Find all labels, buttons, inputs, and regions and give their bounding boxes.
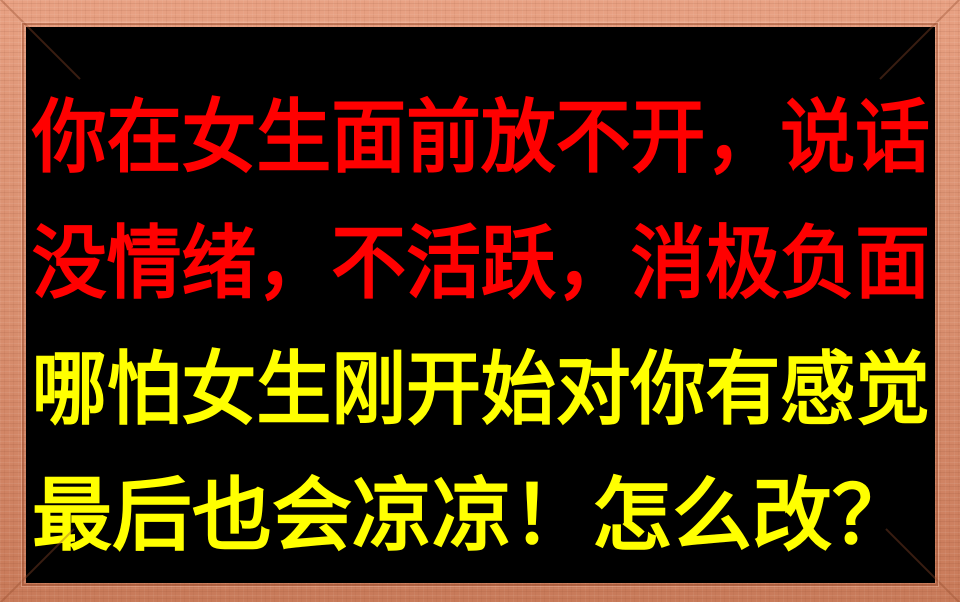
poster-text-line-4: 最后也会凉凉！怎么改？: [30, 453, 930, 579]
poster-wooden-frame: 你在女生面前放不开，说话 没情绪，不活跃，消极负面 哪怕女生刚开始对你有感觉 最…: [0, 0, 960, 602]
poster-text-block: 你在女生面前放不开，说话 没情绪，不活跃，消极负面 哪怕女生刚开始对你有感觉 最…: [30, 75, 930, 579]
poster-text-line-2: 没情绪，不活跃，消极负面: [30, 201, 872, 327]
poster-text-line-3: 哪怕女生刚开始对你有感觉: [30, 327, 872, 453]
poster-text-line-1: 你在女生面前放不开，说话: [30, 75, 872, 201]
poster-black-canvas: 你在女生面前放不开，说话 没情绪，不活跃，消极负面 哪怕女生刚开始对你有感觉 最…: [26, 27, 935, 583]
